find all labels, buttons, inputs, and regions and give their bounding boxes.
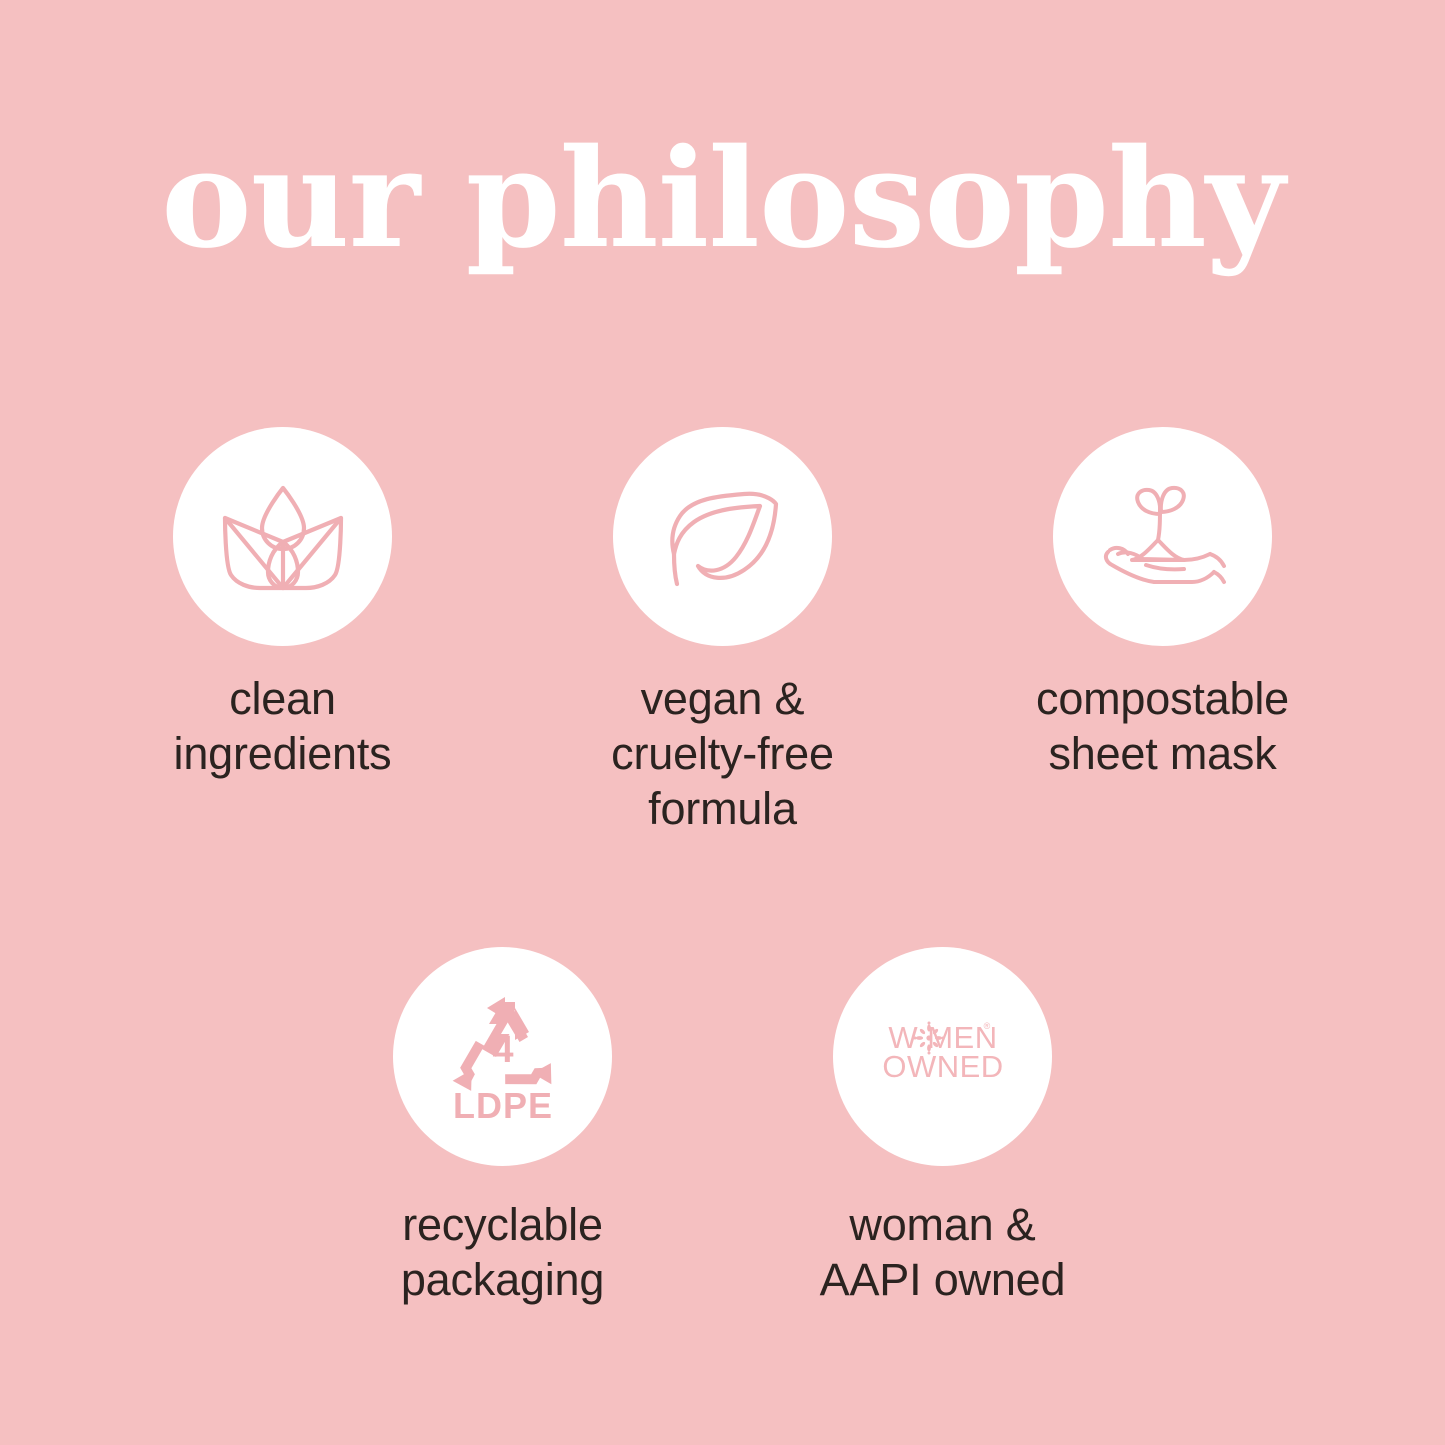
recycling-code-number: 4 bbox=[492, 1029, 513, 1071]
registered-trademark-icon: ® bbox=[983, 1021, 990, 1031]
philosophy-item-woman-aapi-owned: W MEN OWNED ® bbox=[723, 947, 1163, 1308]
philosophy-item-label: clean ingredients bbox=[174, 672, 392, 782]
women-owned-line-2: OWNED bbox=[882, 1049, 1003, 1084]
philosophy-item-label: recyclable packaging bbox=[401, 1198, 604, 1308]
recycling-ldpe-icon: 4 LDPE bbox=[428, 982, 578, 1132]
hand-holding-sprout-icon bbox=[1088, 462, 1238, 612]
philosophy-item-label: vegan & cruelty-free formula bbox=[611, 672, 834, 837]
leaf-icon bbox=[648, 462, 798, 612]
badge-circle bbox=[1053, 427, 1272, 646]
philosophy-item-vegan-cruelty-free: vegan & cruelty-free formula bbox=[503, 427, 943, 837]
philosophy-row-top: clean ingredients vegan & cruelty-free f… bbox=[0, 427, 1445, 837]
women-owned-badge-icon: W MEN OWNED ® bbox=[868, 982, 1018, 1132]
droplet-leaves-icon bbox=[208, 462, 358, 612]
badge-circle: 4 LDPE bbox=[393, 947, 612, 1166]
philosophy-item-compostable-sheet-mask: compostable sheet mask bbox=[943, 427, 1383, 837]
philosophy-graphic: our philosophy bbox=[0, 0, 1445, 1445]
philosophy-item-label: woman & AAPI owned bbox=[820, 1198, 1066, 1308]
philosophy-item-recyclable-packaging: 4 LDPE recyclable packaging bbox=[283, 947, 723, 1308]
philosophy-item-clean-ingredients: clean ingredients bbox=[63, 427, 503, 837]
philosophy-item-label: compostable sheet mask bbox=[1036, 672, 1289, 782]
recycling-code-label: LDPE bbox=[452, 1085, 552, 1126]
badge-circle bbox=[613, 427, 832, 646]
badge-circle bbox=[173, 427, 392, 646]
page-title: our philosophy bbox=[0, 128, 1445, 271]
philosophy-row-bottom: 4 LDPE recyclable packaging W MEN OWNED … bbox=[0, 947, 1445, 1308]
badge-circle: W MEN OWNED ® bbox=[833, 947, 1052, 1166]
